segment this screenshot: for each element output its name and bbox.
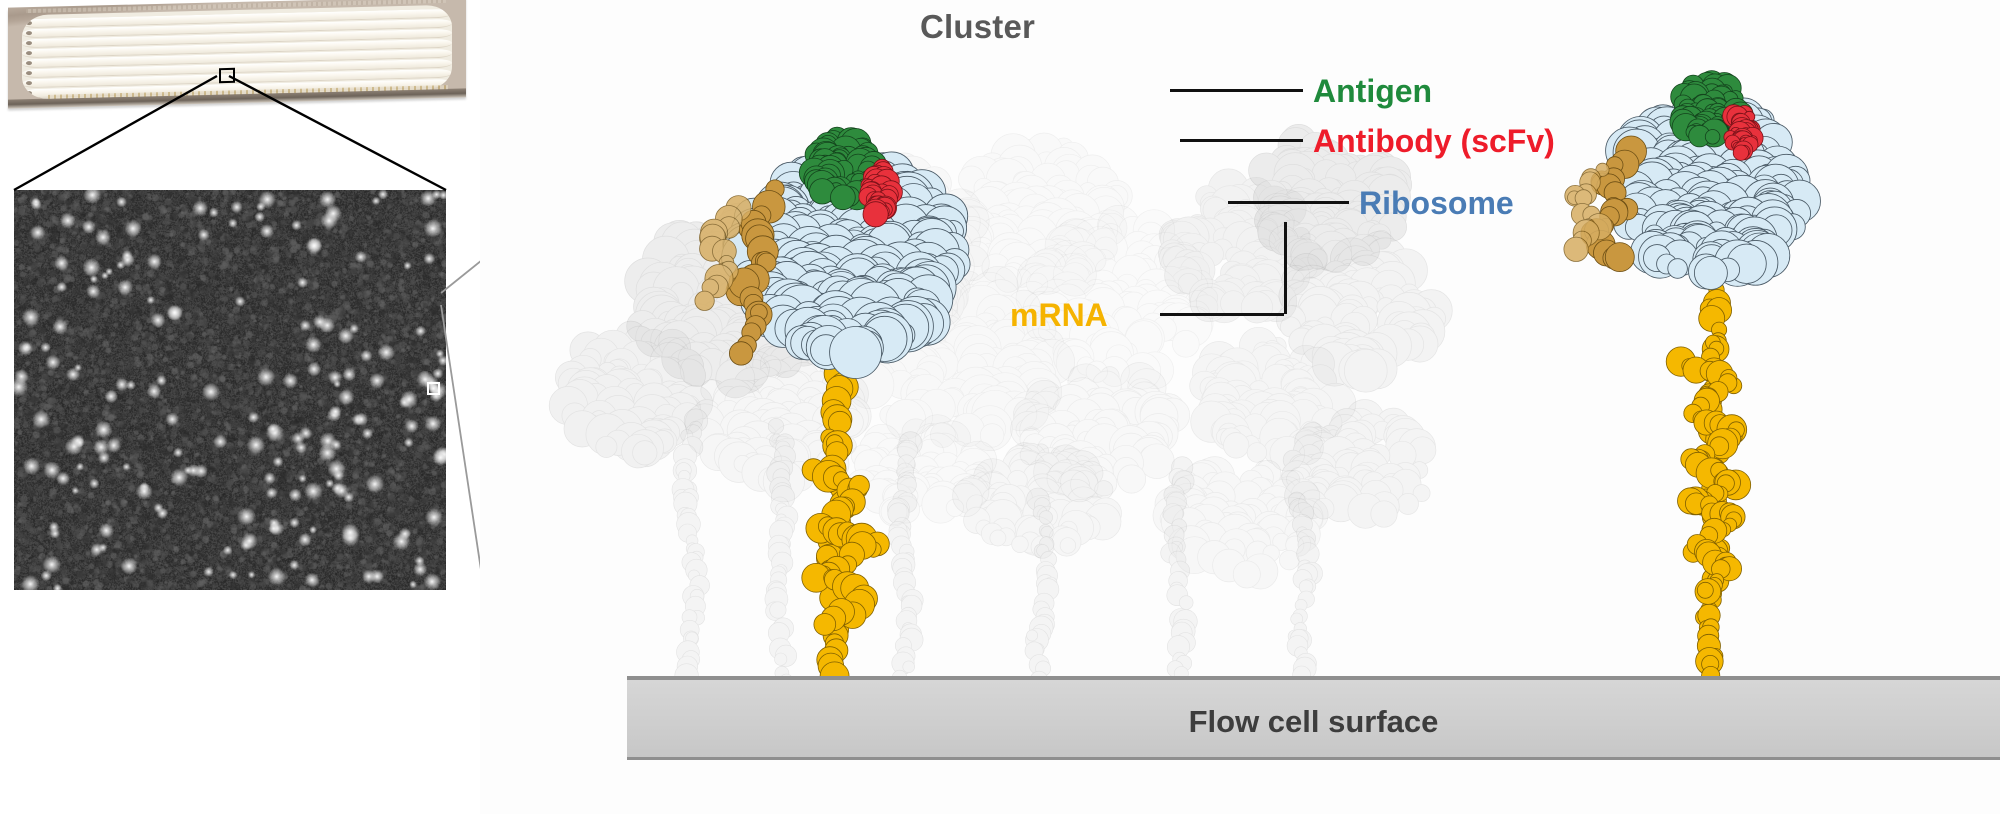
flow-cell-surface-bar: Flow cell surface: [627, 676, 2000, 760]
leader-line-ribosome: [1228, 201, 1349, 204]
flow-cell-photo: [8, 2, 466, 108]
label-antibody: Antibody (scFv): [1313, 123, 1555, 160]
leader-line-antigen: [1170, 89, 1303, 92]
micrograph-roi-box: [427, 382, 440, 395]
right-panel: Cluster Antigen Antibody (scFv) Ri: [480, 0, 2000, 814]
leader-line-mrna: [1160, 313, 1284, 316]
cluster-micrograph: [14, 190, 446, 590]
label-ribosome: Ribosome: [1359, 185, 1514, 222]
flow-cell-lanes: [22, 5, 452, 100]
figure-canvas: Cluster Antigen Antibody (scFv) Ri: [0, 0, 2000, 814]
flow-cell-surface-label: Flow cell surface: [627, 704, 2000, 740]
label-antigen: Antigen: [1313, 73, 1432, 110]
left-panel: [0, 0, 480, 814]
label-mrna: mRNA: [1010, 297, 1108, 334]
leader-line-mrna-vertical: [1284, 222, 1287, 314]
flow-cell-roi-box: [219, 68, 235, 83]
micrograph-noise-field: [14, 190, 446, 590]
leader-line-antibody: [1180, 139, 1303, 142]
